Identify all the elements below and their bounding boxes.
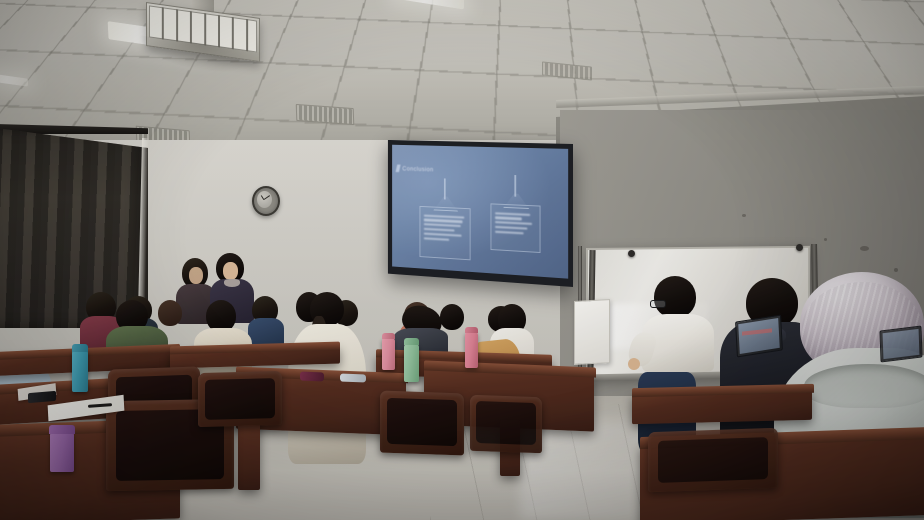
window-curtain [0, 128, 148, 328]
lamp-stem [515, 175, 516, 197]
slide-title: Conclusion [402, 166, 433, 174]
slide-text-line [495, 217, 522, 220]
chair-inner-panel [387, 398, 457, 446]
slide-text-line [495, 221, 532, 225]
lamp-stem [444, 178, 445, 199]
projection-screen: Conclusion [388, 140, 573, 287]
laptop-right [735, 315, 783, 358]
presenter-right-collar [224, 279, 240, 287]
wall-mark [894, 268, 898, 272]
desk-leg-mid-centre [238, 420, 260, 490]
wall-mark [742, 214, 746, 217]
chair-inner-panel [205, 378, 275, 420]
rose-bottle-cap [465, 327, 478, 333]
chair-foreground-right [648, 428, 778, 493]
slide-text-line [424, 219, 463, 223]
student-hair [440, 304, 464, 330]
student-whiteboard-hand [628, 358, 640, 370]
pink-bottle-cap [382, 333, 395, 339]
chair-inner-panel [658, 437, 768, 483]
slide-text-line [424, 223, 461, 227]
wall-mark [860, 246, 869, 251]
slide-text-box-right [490, 203, 540, 253]
laptop-far-right [879, 325, 922, 362]
presenter-left-face [189, 267, 203, 284]
slide-text-line [424, 214, 465, 218]
whiteboard-clip-right [796, 244, 803, 251]
chair-centre-far [380, 391, 464, 456]
student-hair [654, 276, 696, 318]
pencil-case [300, 372, 324, 382]
wall-mark [824, 238, 827, 241]
whiteboard-clip-left [628, 250, 635, 257]
hoodie-collar-fold [804, 364, 924, 408]
small-case [340, 374, 366, 383]
clock-face [257, 191, 272, 208]
laptop-screen [738, 318, 780, 354]
slide-surface: Conclusion [392, 145, 568, 279]
rose-bottle [465, 332, 478, 368]
chair-inner-panel [476, 401, 536, 445]
student-hair [158, 300, 182, 326]
presenter-right-face [223, 262, 238, 280]
green-bottle-cap [404, 338, 419, 345]
chair-right-row [470, 395, 542, 454]
clock-minute-hand [264, 195, 270, 200]
green-bottle [404, 344, 419, 382]
pink-bottle [382, 338, 395, 370]
slide-text-line [424, 232, 462, 236]
laptop-screen [883, 329, 920, 359]
chair-right-mid [198, 371, 282, 427]
purple-bottle-cap [49, 425, 75, 434]
purple-bottle [50, 432, 74, 472]
slide-text-line [495, 212, 530, 216]
flip-chart-paper [574, 299, 610, 365]
slide-text-box-left [420, 206, 471, 260]
teal-bottle-cap [72, 344, 88, 352]
teal-bottle [72, 350, 88, 392]
slide-text-line [495, 231, 523, 235]
classroom-photo: Conclusion [0, 0, 924, 520]
slide-text-line [495, 226, 528, 230]
wall-clock [252, 186, 280, 216]
glasses-icon [650, 300, 666, 308]
ceiling-ac-unit [146, 2, 261, 62]
slide-text-line [424, 237, 449, 241]
slide-text-line [424, 228, 454, 232]
